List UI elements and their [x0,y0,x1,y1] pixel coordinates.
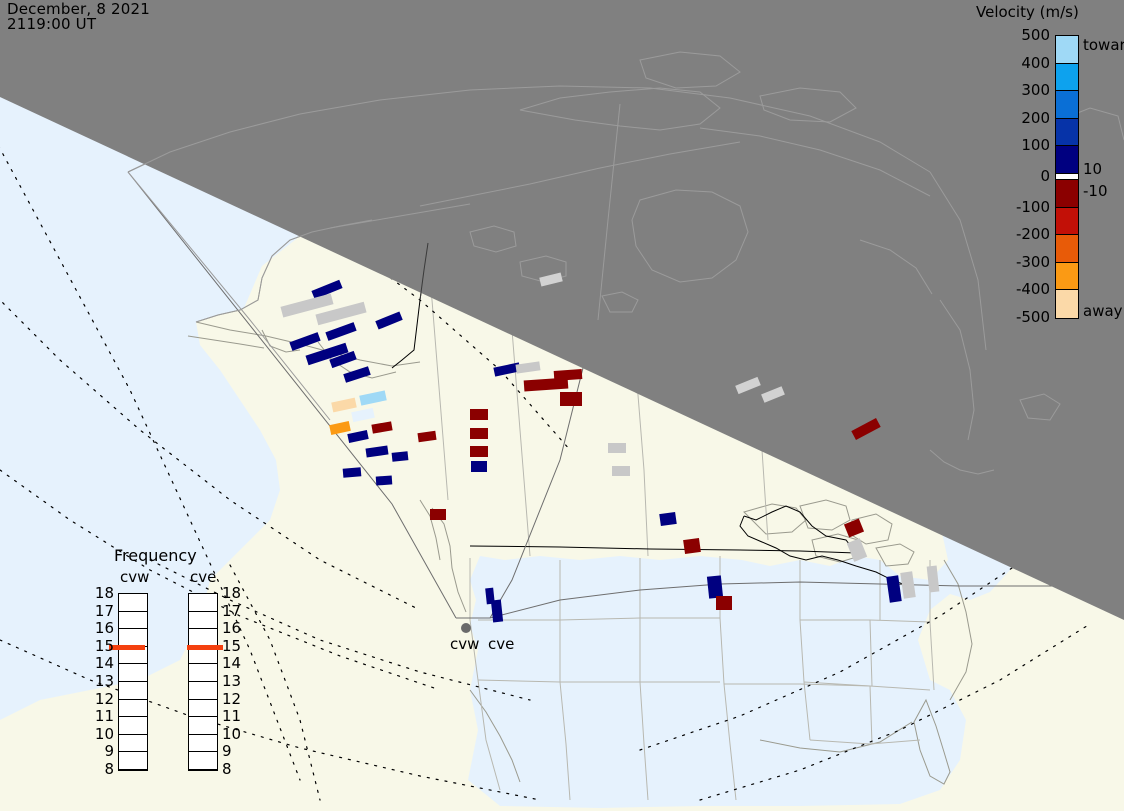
frequency-cell [189,752,217,770]
velocity-tick-300: 300 [1021,81,1050,99]
frequency-column-label-cvw: cvw [120,568,149,586]
scatter-cell[interactable] [430,509,446,520]
frequency-tick-18: 18 [222,584,252,602]
velocity-tick-neg200: -200 [1016,225,1050,243]
frequency-marker-cvw [109,645,145,650]
frequency-tick-10: 10 [222,725,252,743]
frequency-scale-cve[interactable] [188,593,218,771]
velocity-band-9 [1056,263,1078,291]
velocity-band-2 [1056,91,1078,119]
velocity-tick-neg300: -300 [1016,253,1050,271]
timestamp-block: December, 8 2021 2119:00 UT [7,2,150,32]
station-label-cvw[interactable]: cvw [450,635,479,653]
station-label-cve[interactable]: cve [488,635,514,653]
frequency-tick-16: 16 [84,619,114,637]
radar-site-marker[interactable] [461,623,471,633]
frequency-tick-8: 8 [84,760,114,778]
velocity-legend: Velocity (m/s) 5004003002001000-100-200-… [962,2,1124,342]
timestamp-time: 2119:00 UT [7,17,150,32]
frequency-cell [119,664,147,682]
frequency-legend-title: Frequency [114,546,197,565]
velocity-tick-labels: 5004003002001000-100-200-300-400-500 [962,35,1050,319]
frequency-tick-12: 12 [222,690,252,708]
frequency-tick-13: 13 [84,672,114,690]
scatter-cell[interactable] [392,451,409,462]
velocity-band-6 [1056,180,1078,208]
frequency-tick-13: 13 [222,672,252,690]
frequency-cell [119,682,147,700]
frequency-tick-9: 9 [84,742,114,760]
scatter-cell[interactable] [471,461,487,472]
velocity-tick-200: 200 [1021,109,1050,127]
velocity-band-0 [1056,36,1078,64]
scatter-cell[interactable] [470,428,488,439]
frequency-legend: Frequency cvw cve 18171615141312111098 1… [96,546,260,786]
velocity-band-1 [1056,64,1078,92]
frequency-cell [189,594,217,612]
frequency-marker-cve [187,645,223,650]
velocity-side-labels: toward10-10away [1083,35,1124,319]
frequency-cell [189,664,217,682]
frequency-tick-15: 15 [84,637,114,655]
velocity-away-label: away [1083,302,1123,320]
velocity-toward-label: toward [1083,36,1124,54]
velocity-tick-100: 100 [1021,136,1050,154]
velocity-positive-threshold: 10 [1083,160,1102,178]
velocity-colorbar [1055,35,1079,319]
frequency-tick-9: 9 [222,742,252,760]
frequency-tick-8: 8 [222,760,252,778]
frequency-ticks-cvw: 18171615141312111098 [84,593,114,771]
frequency-cell [189,735,217,753]
frequency-cell [189,682,217,700]
scatter-cell[interactable] [470,446,488,457]
frequency-tick-17: 17 [222,602,252,620]
scatter-cell[interactable] [343,467,362,478]
frequency-cell [119,612,147,630]
scatter-cell[interactable] [608,443,626,453]
radar-map-figure: December, 8 2021 2119:00 UT Velocity (m/… [0,0,1124,811]
frequency-ticks-cve: 18171615141312111098 [222,593,252,771]
frequency-tick-11: 11 [84,707,114,725]
frequency-tick-17: 17 [84,602,114,620]
frequency-tick-14: 14 [84,654,114,672]
frequency-cell [119,752,147,770]
frequency-tick-18: 18 [84,584,114,602]
frequency-tick-14: 14 [222,654,252,672]
scatter-cell[interactable] [560,392,582,406]
frequency-cell [189,612,217,630]
frequency-tick-10: 10 [84,725,114,743]
velocity-tick-500: 500 [1021,26,1050,44]
velocity-tick-neg500: -500 [1016,308,1050,326]
velocity-tick-neg100: -100 [1016,198,1050,216]
frequency-cell [119,700,147,718]
scatter-cell[interactable] [612,466,630,476]
scatter-cell[interactable] [485,588,495,605]
velocity-band-3 [1056,119,1078,147]
scatter-cell[interactable] [707,575,723,598]
frequency-cell [189,700,217,718]
frequency-cell [119,594,147,612]
velocity-band-10 [1056,290,1078,318]
frequency-tick-15: 15 [222,637,252,655]
velocity-band-8 [1056,235,1078,263]
scatter-cell[interactable] [659,512,677,526]
frequency-cell [119,735,147,753]
frequency-cell [189,717,217,735]
frequency-scale-cvw[interactable] [118,593,148,771]
velocity-negative-threshold: -10 [1083,182,1108,200]
frequency-tick-11: 11 [222,707,252,725]
scatter-cell[interactable] [554,369,583,381]
scatter-cell[interactable] [716,596,732,610]
velocity-band-7 [1056,208,1078,236]
frequency-tick-16: 16 [222,619,252,637]
velocity-band-4 [1056,146,1078,174]
velocity-legend-title: Velocity (m/s) [976,3,1079,21]
frequency-tick-12: 12 [84,690,114,708]
velocity-tick-0: 0 [1040,167,1050,185]
scatter-cell[interactable] [470,409,488,420]
scatter-cell[interactable] [376,475,393,485]
frequency-column-label-cve: cve [190,568,216,586]
velocity-tick-neg400: -400 [1016,280,1050,298]
velocity-tick-400: 400 [1021,54,1050,72]
frequency-cell [119,717,147,735]
scatter-cell[interactable] [683,538,701,554]
